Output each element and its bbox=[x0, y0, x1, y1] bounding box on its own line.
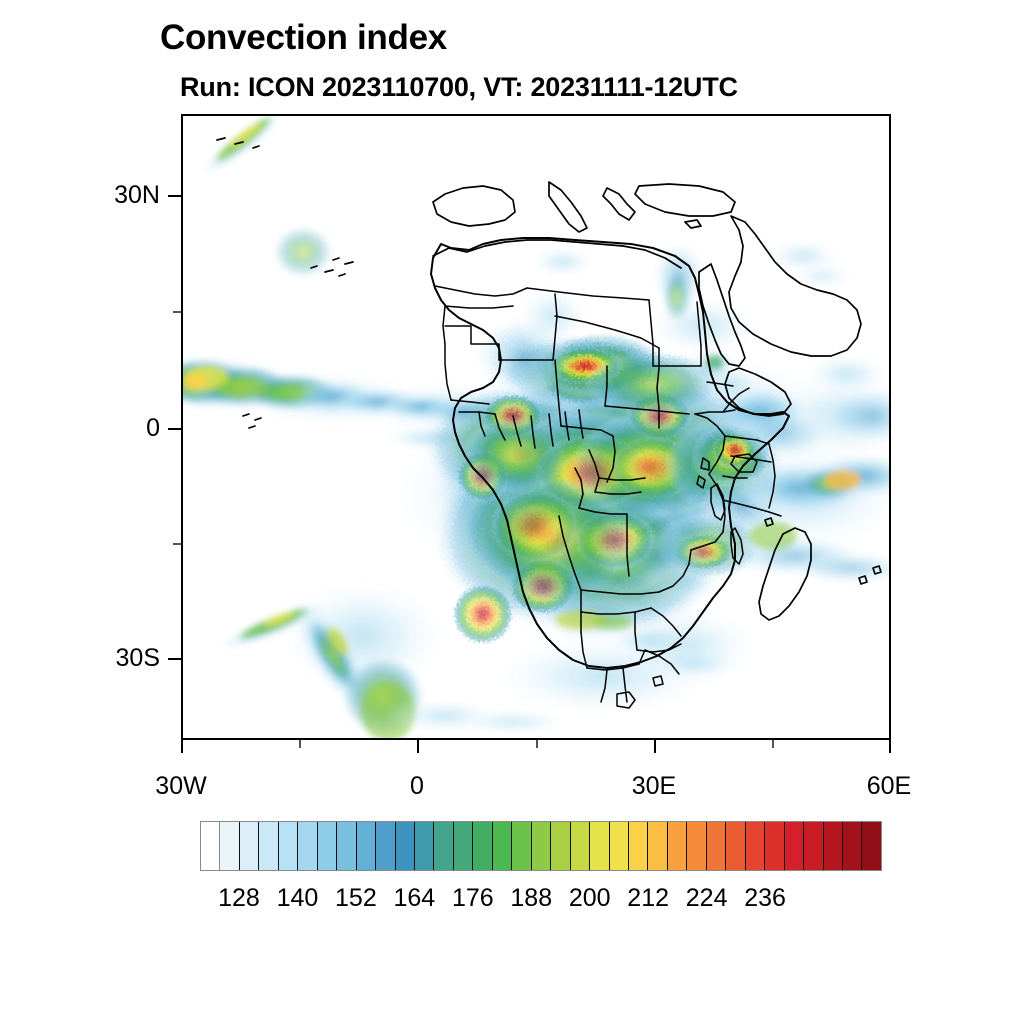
ytick-30n bbox=[168, 195, 181, 197]
xtick-60e bbox=[889, 740, 891, 753]
ytick-30s bbox=[168, 658, 181, 660]
colorbar-cell-15 bbox=[493, 822, 512, 870]
xtick-30w bbox=[181, 740, 183, 753]
xaxis-label-30w: 30W bbox=[121, 772, 241, 801]
colorbar-cell-5 bbox=[298, 822, 317, 870]
yaxis-label-0: 0 bbox=[40, 414, 160, 443]
yaxis-label-30n: 30N bbox=[40, 181, 160, 210]
colorbar-cell-0 bbox=[201, 822, 220, 870]
xtick-minor-3 bbox=[772, 740, 774, 748]
xaxis-label-60e: 60E bbox=[829, 772, 949, 801]
africa-convection-map bbox=[183, 116, 889, 738]
xtick-minor-1 bbox=[299, 740, 301, 748]
ytick-minor-2 bbox=[173, 543, 181, 545]
colorbar-cell-1 bbox=[220, 822, 239, 870]
colorbar-cell-24 bbox=[668, 822, 687, 870]
xaxis-label-30e: 30E bbox=[594, 772, 714, 801]
colorbar-cell-23 bbox=[648, 822, 667, 870]
colorbar-cell-21 bbox=[610, 822, 629, 870]
map-plot-area bbox=[181, 114, 891, 740]
ytick-0 bbox=[168, 428, 181, 430]
chart-subtitle: Run: ICON 2023110700, VT: 20231111-12UTC bbox=[180, 72, 738, 103]
convection-index-chart-page: Convection index Run: ICON 2023110700, V… bbox=[0, 0, 1024, 1024]
colorbar-cell-3 bbox=[259, 822, 278, 870]
colorbar bbox=[200, 821, 882, 871]
xtick-30e bbox=[654, 740, 656, 753]
colorbar-tick-labels: 128140152164176188200212224236 bbox=[200, 884, 882, 918]
colorbar-tick-236: 236 bbox=[725, 884, 805, 913]
colorbar-cell-12 bbox=[434, 822, 453, 870]
yaxis-label-30s: 30S bbox=[40, 644, 160, 673]
colorbar-cell-27 bbox=[726, 822, 745, 870]
colorbar-cell-9 bbox=[376, 822, 395, 870]
colorbar-cell-25 bbox=[687, 822, 706, 870]
colorbar-cell-22 bbox=[629, 822, 648, 870]
ytick-minor-1 bbox=[173, 311, 181, 313]
colorbar-cell-4 bbox=[279, 822, 298, 870]
colorbar-cell-20 bbox=[590, 822, 609, 870]
xtick-minor-2 bbox=[536, 740, 538, 748]
xaxis-label-0: 0 bbox=[357, 772, 477, 801]
colorbar-cell-13 bbox=[454, 822, 473, 870]
colorbar-cell-7 bbox=[337, 822, 356, 870]
colorbar-cell-31 bbox=[804, 822, 823, 870]
colorbar-cell-19 bbox=[571, 822, 590, 870]
colorbar-cell-28 bbox=[746, 822, 765, 870]
colorbar-cell-17 bbox=[532, 822, 551, 870]
colorbar-cell-14 bbox=[473, 822, 492, 870]
colorbar-cell-30 bbox=[785, 822, 804, 870]
colorbar-cell-11 bbox=[415, 822, 434, 870]
colorbar-cell-16 bbox=[512, 822, 531, 870]
xtick-0 bbox=[417, 740, 419, 753]
colorbar-cell-32 bbox=[824, 822, 843, 870]
colorbar-cell-26 bbox=[707, 822, 726, 870]
colorbar-cell-8 bbox=[357, 822, 376, 870]
colorbar-cell-2 bbox=[240, 822, 259, 870]
colorbar-cell-18 bbox=[551, 822, 570, 870]
colorbar-cell-33 bbox=[843, 822, 862, 870]
colorbar-cell-6 bbox=[318, 822, 337, 870]
colorbar-cell-10 bbox=[396, 822, 415, 870]
page-title: Convection index bbox=[160, 18, 447, 58]
colorbar-cell-34 bbox=[862, 822, 880, 870]
colorbar-cell-29 bbox=[765, 822, 784, 870]
